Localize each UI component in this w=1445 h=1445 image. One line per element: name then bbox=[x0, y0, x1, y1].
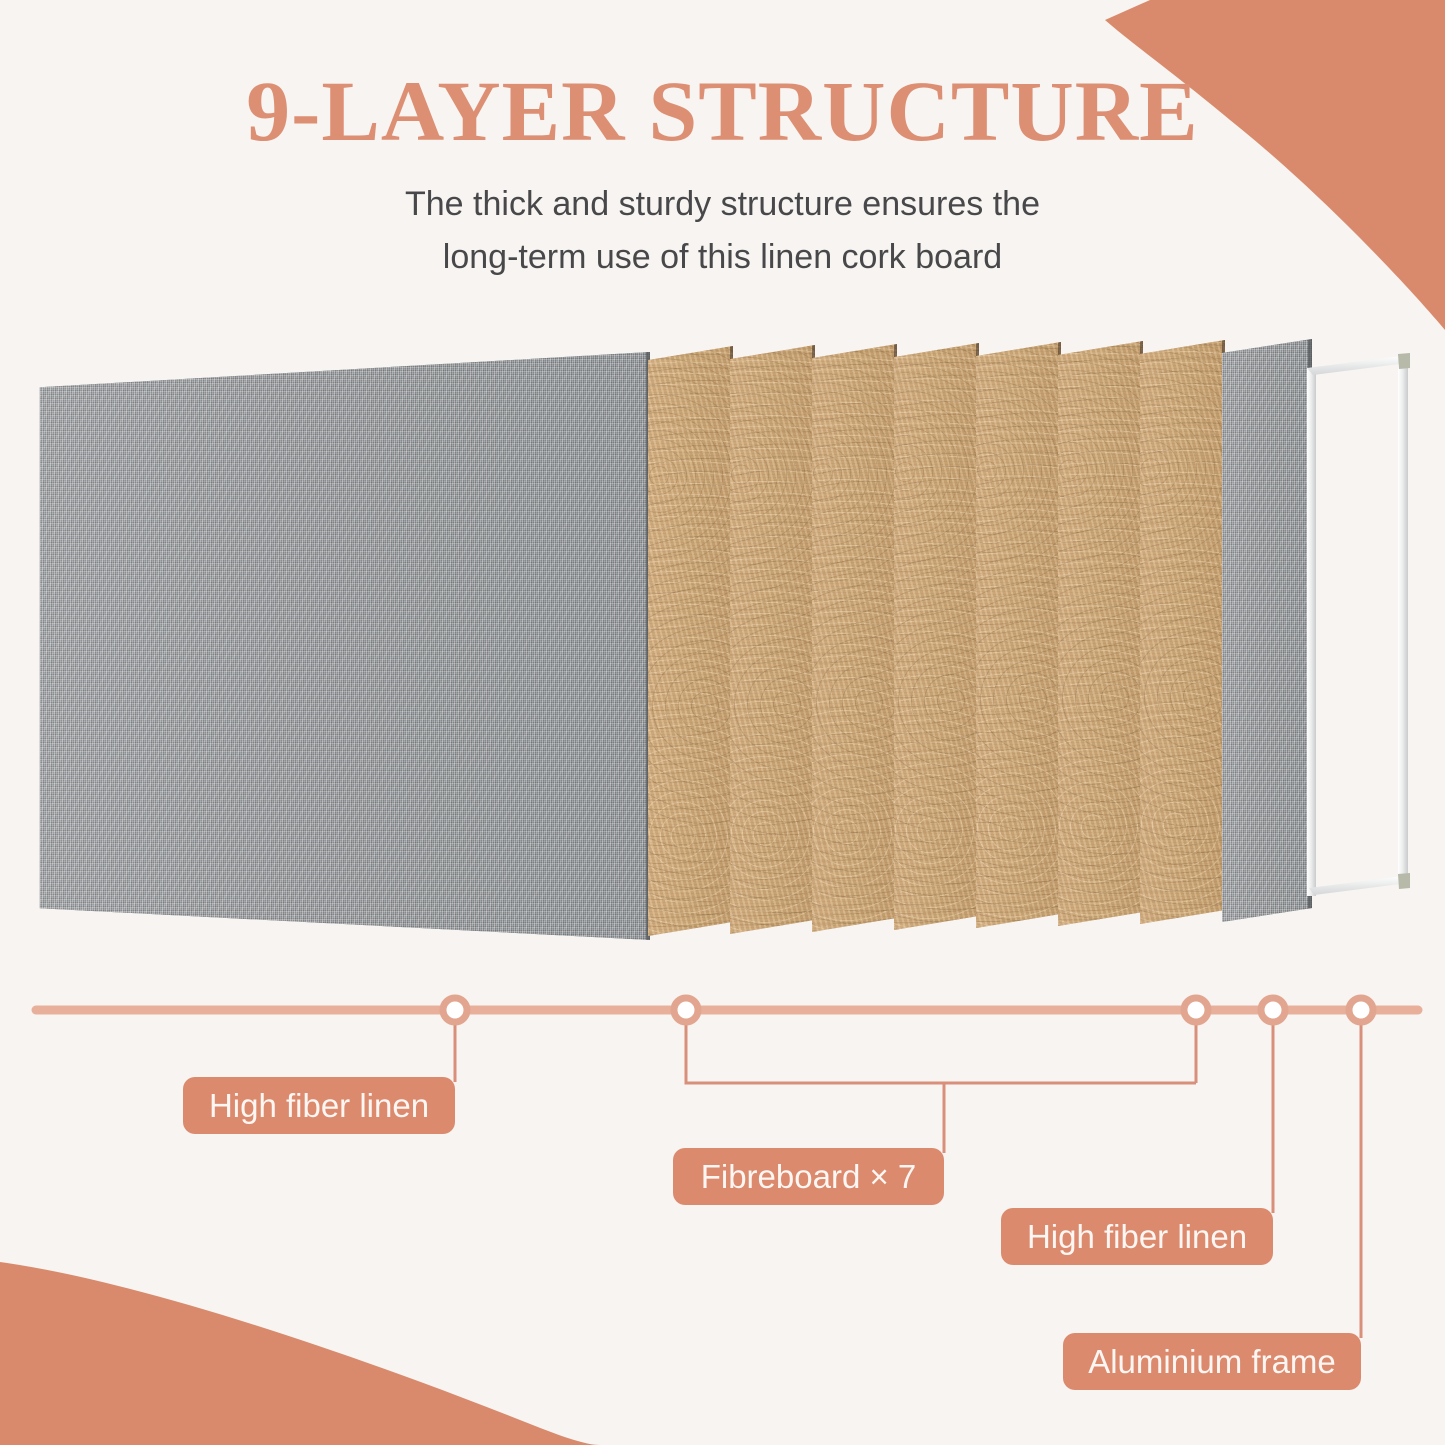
layer-panel-linen-front bbox=[38, 352, 650, 940]
callout-label-fibreboard[interactable]: Fibreboard × 7 bbox=[673, 1148, 944, 1205]
connector-node-linen-front bbox=[443, 998, 467, 1022]
layer-panel-fibreboard-3 bbox=[812, 344, 897, 932]
layer-panel-fibreboard-2 bbox=[730, 345, 815, 934]
layer-panel-fibreboard-1 bbox=[648, 346, 733, 936]
layer-panel-fibreboard-4 bbox=[894, 343, 979, 930]
infographic-canvas: 9-LAYER STRUCTURE The thick and sturdy s… bbox=[0, 0, 1445, 1445]
connector-node-linen-back bbox=[1261, 998, 1285, 1022]
callout-label-linen-front[interactable]: High fiber linen bbox=[183, 1077, 455, 1134]
callout-label-alu-frame[interactable]: Aluminium frame bbox=[1063, 1333, 1361, 1390]
layer-panel-linen-back bbox=[1222, 339, 1312, 922]
layer-panel-fibreboard-5 bbox=[976, 342, 1061, 928]
callout-label-linen-back[interactable]: High fiber linen bbox=[1001, 1208, 1273, 1265]
connector-node-fibreboard-left bbox=[674, 998, 698, 1022]
layer-panel-fibreboard-7 bbox=[1140, 340, 1225, 924]
connector-node-fibreboard-right bbox=[1184, 998, 1208, 1022]
connector-node-alu-frame bbox=[1349, 998, 1373, 1022]
layer-panel-fibreboard-6 bbox=[1058, 341, 1143, 926]
callout-diagram: High fiber linen Fibreboard × 7 High fib… bbox=[0, 960, 1445, 1445]
connector-fibreboard-bracket bbox=[686, 1010, 1196, 1153]
layer-aluminium-frame bbox=[1300, 332, 1420, 932]
